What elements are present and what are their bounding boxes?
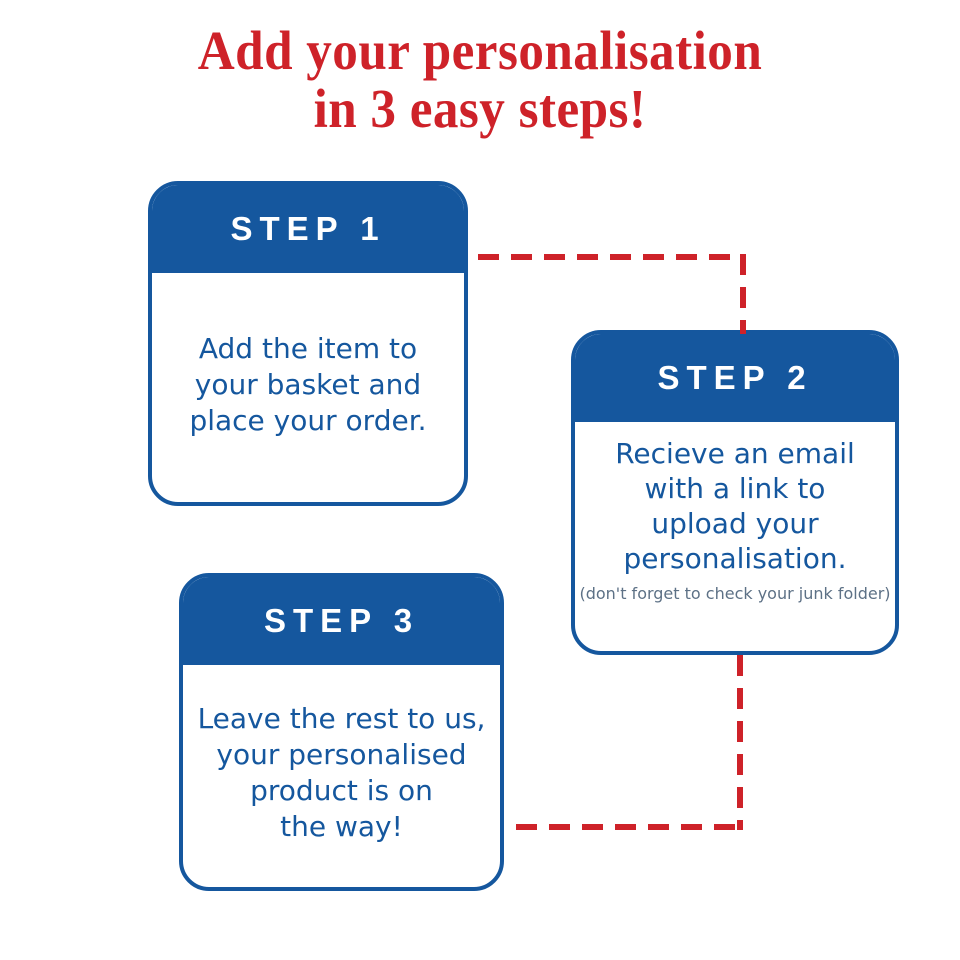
- step-1-text-line-2: your basket and: [189, 367, 426, 403]
- step-1-text-line-1: Add the item to: [189, 331, 426, 367]
- connector-step2-to-step3-vertical: [737, 655, 743, 830]
- step-3-body: Leave the rest to us, your personalised …: [183, 665, 500, 887]
- step-3-text: Leave the rest to us, your personalised …: [198, 701, 486, 845]
- page-title-line-1: Add your personalisation: [34, 22, 927, 80]
- step-3-text-line-4: the way!: [198, 809, 486, 845]
- page-title: Add your personalisation in 3 easy steps…: [34, 22, 927, 138]
- step-1-text: Add the item to your basket and place yo…: [189, 331, 426, 439]
- page-title-line-2: in 3 easy steps!: [34, 80, 927, 138]
- infographic-canvas: Add your personalisation in 3 easy steps…: [0, 0, 960, 960]
- step-2-body: Recieve an email with a link to upload y…: [575, 422, 895, 651]
- step-2-header: STEP 2: [575, 334, 895, 422]
- step-1-text-line-3: place your order.: [189, 403, 426, 439]
- step-2-text-line-2: with a link to: [615, 471, 855, 506]
- step-card-1: STEP 1 Add the item to your basket and p…: [148, 181, 468, 506]
- step-3-text-line-2: your personalised: [198, 737, 486, 773]
- step-2-note: (don't forget to check your junk folder): [579, 584, 890, 604]
- step-1-body: Add the item to your basket and place yo…: [152, 273, 464, 502]
- step-2-text: Recieve an email with a link to upload y…: [615, 436, 855, 576]
- connector-step1-to-step2-vertical: [740, 254, 746, 334]
- step-card-3: STEP 3 Leave the rest to us, your person…: [179, 573, 504, 891]
- connector-step2-to-step3-horizontal: [516, 824, 743, 830]
- step-3-text-line-3: product is on: [198, 773, 486, 809]
- step-3-text-line-1: Leave the rest to us,: [198, 701, 486, 737]
- step-card-2: STEP 2 Recieve an email with a link to u…: [571, 330, 899, 655]
- step-2-text-line-4: personalisation.: [615, 541, 855, 576]
- step-3-header: STEP 3: [183, 577, 500, 665]
- step-1-header: STEP 1: [152, 185, 464, 273]
- step-2-text-line-1: Recieve an email: [615, 436, 855, 471]
- step-2-text-line-3: upload your: [615, 506, 855, 541]
- connector-step1-to-step2-horizontal: [478, 254, 746, 260]
